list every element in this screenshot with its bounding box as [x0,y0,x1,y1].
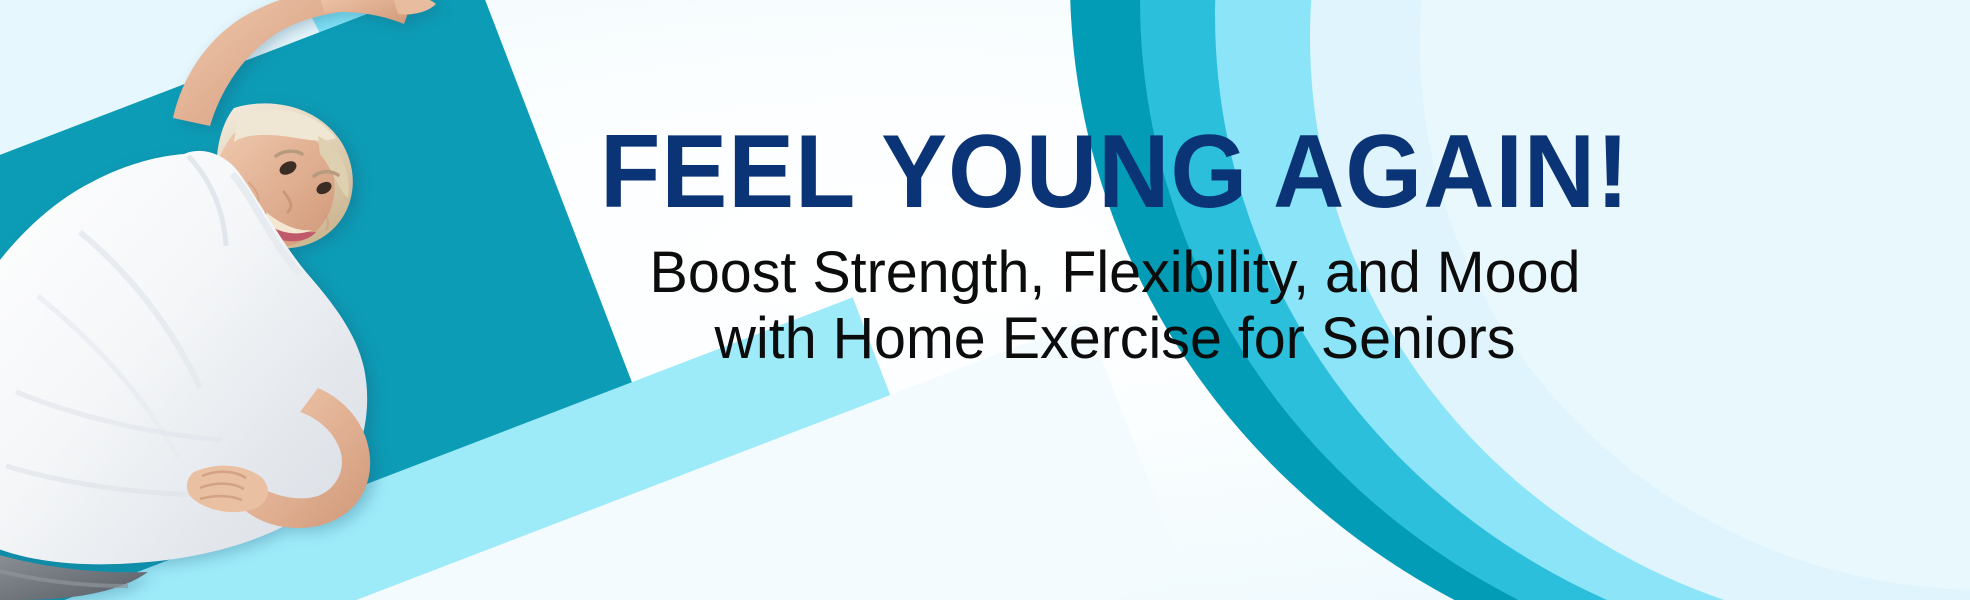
subtitle-line-2: with Home Exercise for Seniors [387,306,1842,372]
subtitle-line-1: Boost Strength, Flexibility, and Mood [387,240,1842,306]
subtitle: Boost Strength, Flexibility, and Mood wi… [387,240,1842,372]
hero-banner: FEEL YOUNG AGAIN! Boost Strength, Flexib… [0,0,1970,600]
page-title: FEEL YOUNG AGAIN! [417,118,1814,226]
copy-block: FEEL YOUNG AGAIN! Boost Strength, Flexib… [380,0,1900,600]
